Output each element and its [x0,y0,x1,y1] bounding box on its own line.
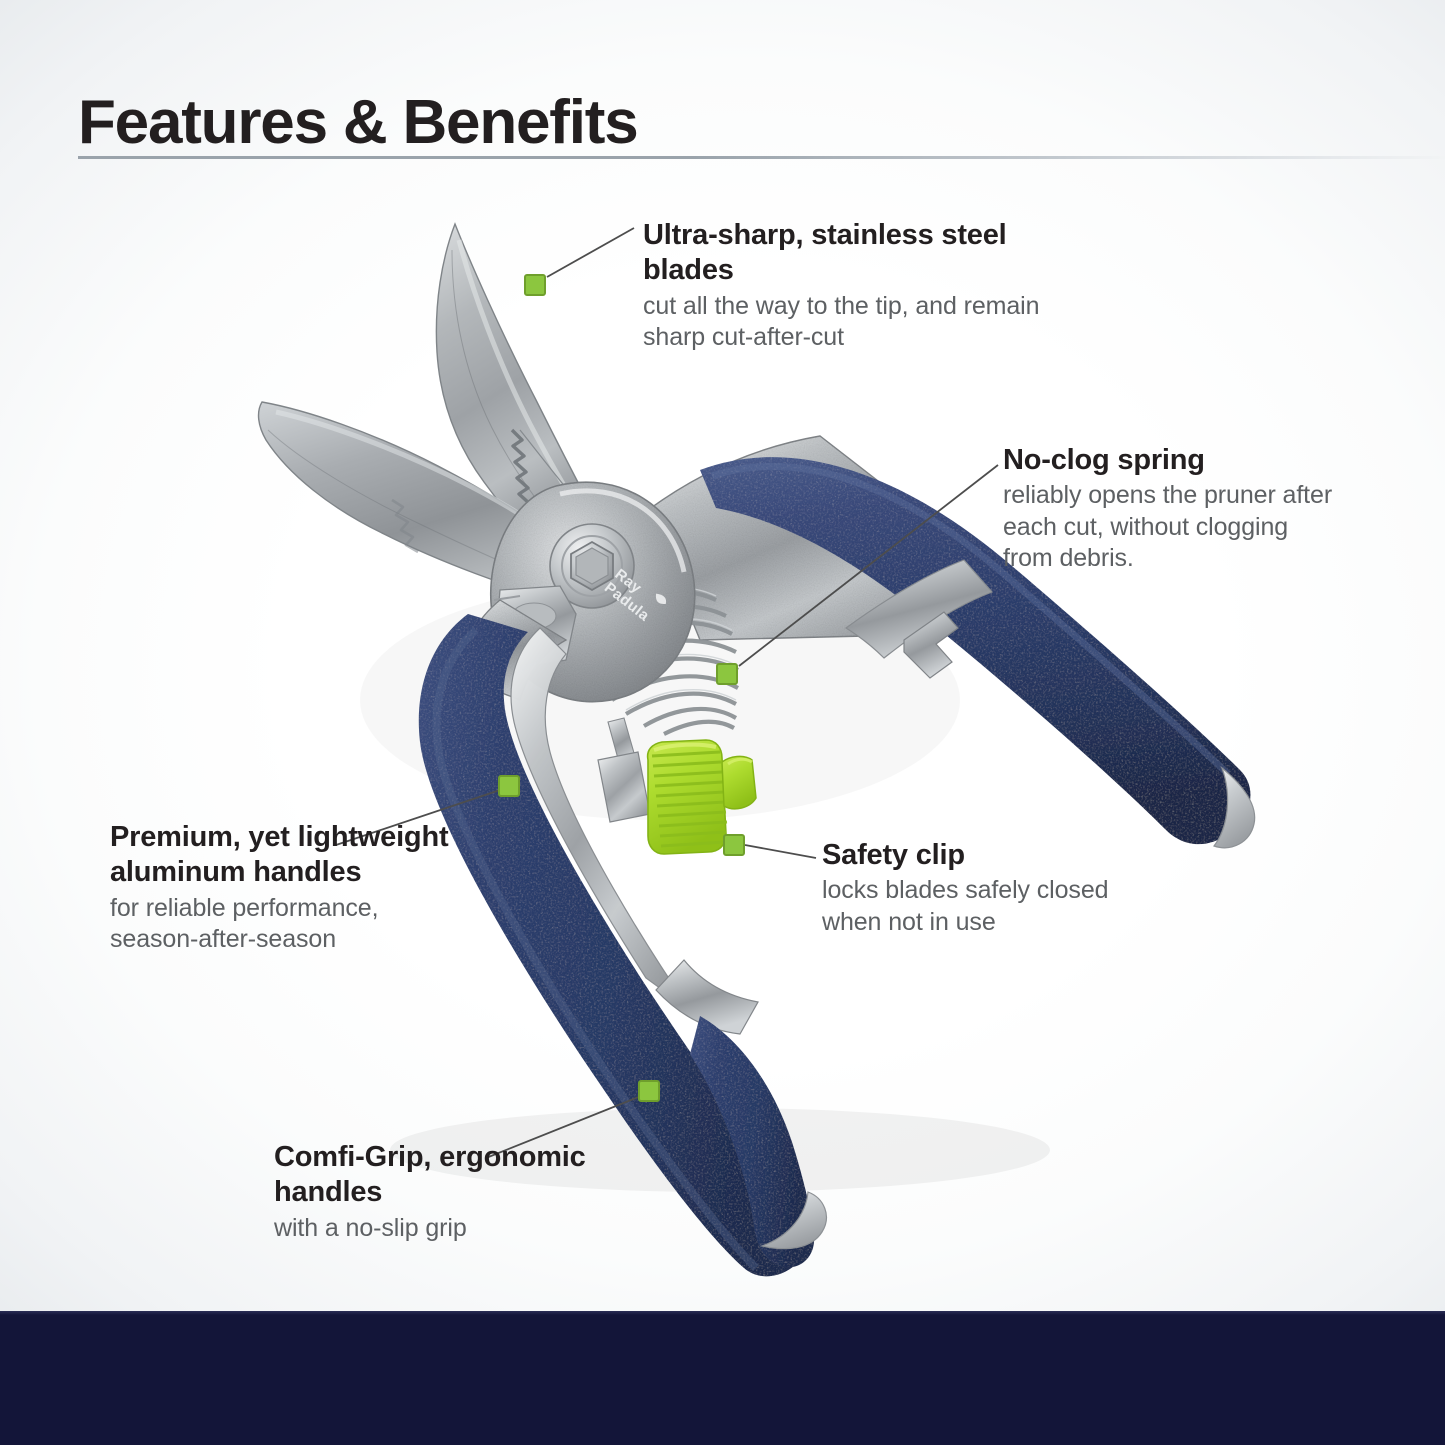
callout-premium: Premium, yet lightweight aluminum handle… [110,820,450,956]
callout-safety-headline: Safety clip [822,838,1152,873]
callout-spring-sub: reliably opens the pruner after each cut… [1003,480,1333,575]
marker-spring[interactable] [716,663,738,685]
callout-blades: Ultra-sharp, stainless steel blades cut … [643,218,1043,354]
infographic-page: Features & Benefits [0,0,1445,1445]
marker-premium[interactable] [498,775,520,797]
marker-blades[interactable] [524,274,546,296]
callout-comfi: Comfi-Grip, ergonomic handles with a no-… [274,1140,634,1244]
callout-blades-sub: cut all the way to the tip, and remain s… [643,291,1043,354]
footer-band [0,1311,1445,1445]
callout-spring: No-clog spring reliably opens the pruner… [1003,443,1333,575]
callout-premium-sub: for reliable performance, season-after-s… [110,893,450,956]
marker-comfi[interactable] [638,1080,660,1102]
callout-spring-headline: No-clog spring [1003,443,1333,478]
marker-safety[interactable] [723,834,745,856]
pruner-illustration: Ray Padula [0,0,1445,1445]
callout-comfi-headline: Comfi-Grip, ergonomic handles [274,1140,634,1211]
callout-blades-headline: Ultra-sharp, stainless steel blades [643,218,1043,289]
callout-safety: Safety clip locks blades safely closed w… [822,838,1152,938]
callout-comfi-sub: with a no-slip grip [274,1213,634,1245]
callout-premium-headline: Premium, yet lightweight aluminum handle… [110,820,450,891]
callout-safety-sub: locks blades safely closed when not in u… [822,875,1152,938]
